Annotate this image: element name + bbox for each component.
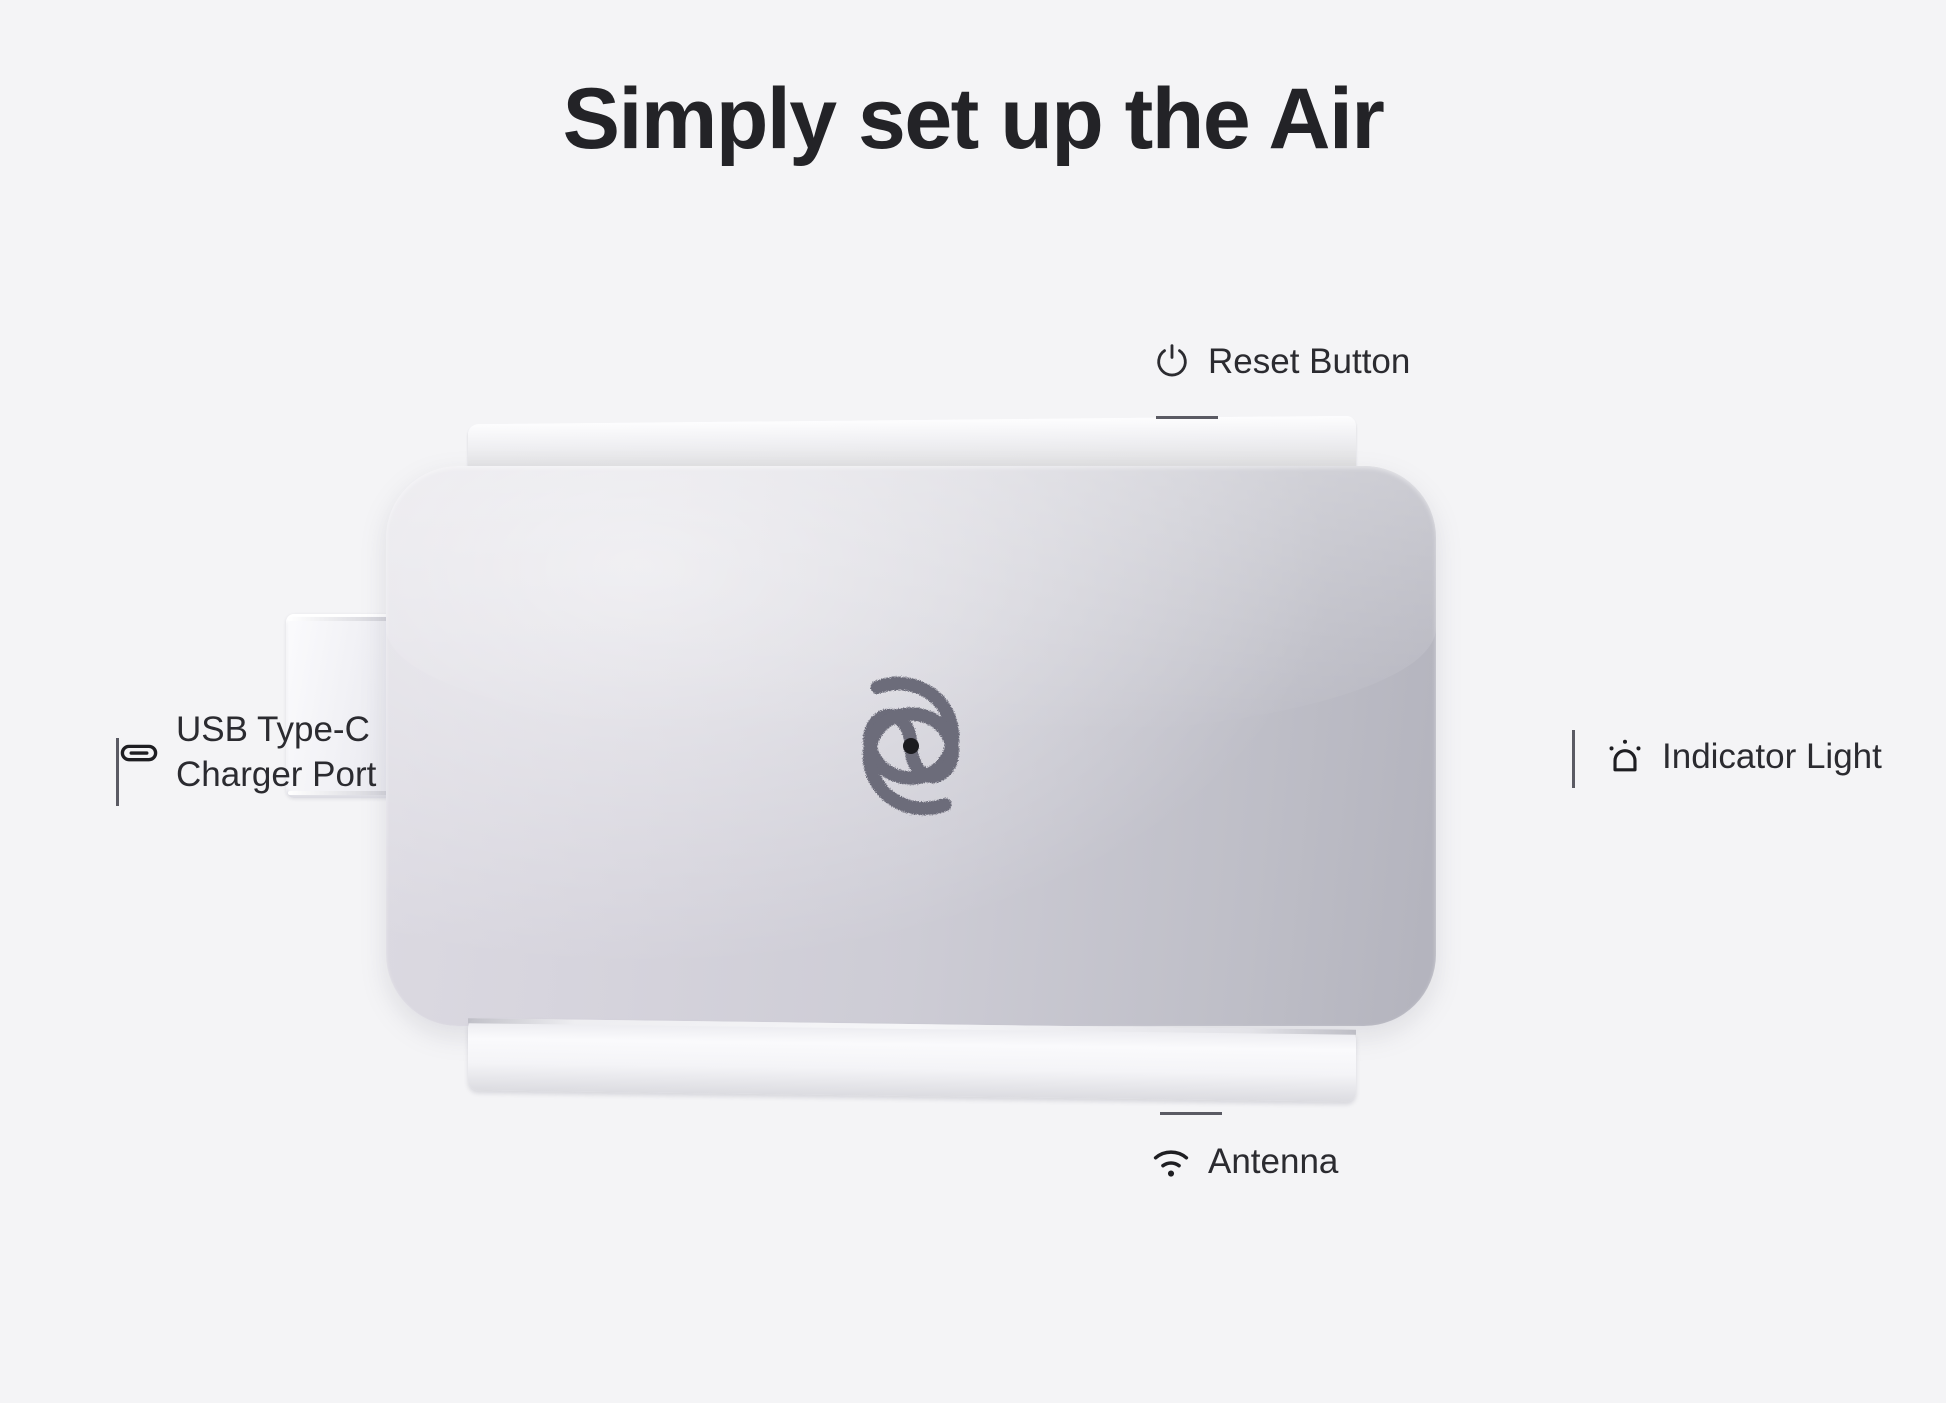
callout-usb-type-c-label-line2: Charger Port xyxy=(176,753,376,798)
callout-indicator-light: Indicator Light xyxy=(1604,735,1882,780)
callout-antenna-label: Antenna xyxy=(1208,1140,1338,1185)
indicator-light-icon xyxy=(1604,736,1646,778)
device-bottom-panel xyxy=(468,1018,1356,1102)
callout-usb-type-c-label-line1: USB Type-C xyxy=(176,708,376,753)
usb-type-c-icon xyxy=(118,732,160,774)
spiral-logo-center-dot xyxy=(903,738,919,754)
spiral-logo-icon xyxy=(822,657,1000,835)
leader-line-reset xyxy=(1156,416,1218,419)
device-body xyxy=(386,466,1436,1026)
leader-line-antenna xyxy=(1160,1112,1222,1115)
callout-usb-type-c: USB Type-C Charger Port xyxy=(118,708,376,798)
device-illustration xyxy=(360,420,1590,1110)
power-icon xyxy=(1152,342,1192,382)
leader-line-indicator xyxy=(1572,730,1575,788)
callout-reset-button: Reset Button xyxy=(1152,340,1410,385)
callout-reset-button-label: Reset Button xyxy=(1208,340,1410,385)
callout-indicator-light-label: Indicator Light xyxy=(1662,735,1882,780)
wifi-icon xyxy=(1150,1141,1192,1183)
callout-antenna: Antenna xyxy=(1150,1140,1338,1185)
callout-usb-type-c-label: USB Type-C Charger Port xyxy=(176,708,376,798)
page-title: Simply set up the Air xyxy=(0,72,1946,167)
